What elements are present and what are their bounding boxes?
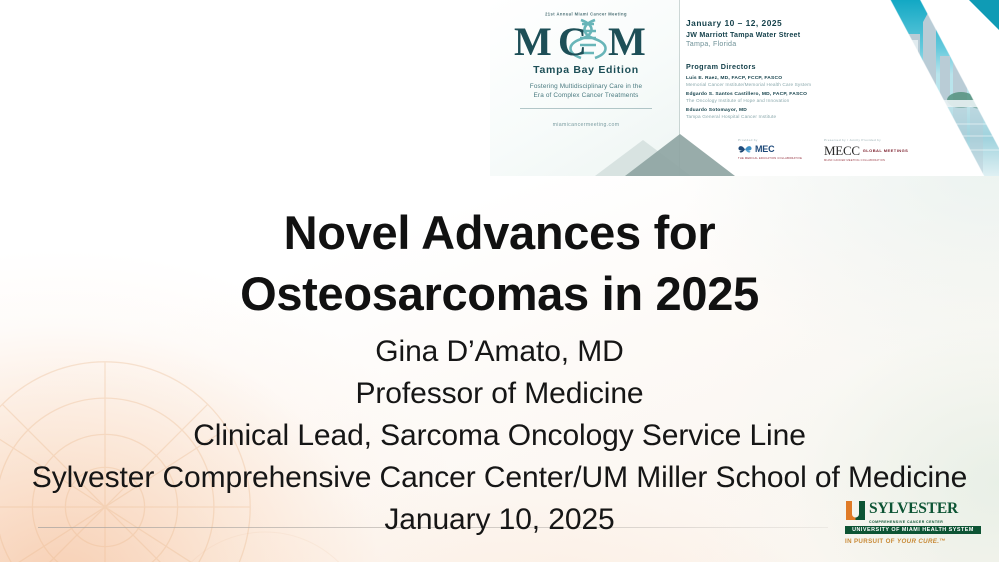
presenter-institution: Sylvester Comprehensive Cancer Center/UM… [0,457,999,499]
program-director-affiliation: Tampa General Hospital Cancer Institute [686,114,861,119]
mcm-supertitle: 21st Annual Miami Cancer Meeting [490,12,684,17]
slide-title-line-1: Novel Advances for [0,202,999,263]
sponsor-mec-kicker: Provided by [738,138,802,142]
sylvester-subtitle: COMPREHENSIVE CANCER CENTER [869,520,981,524]
presenter-name: Gina D’Amato, MD [0,331,999,373]
conference-venue: JW Marriott Tampa Water Street [686,31,861,39]
mcm-tagline: Fostering Multidisciplinary Care in the … [508,82,664,101]
sylvester-tagline-italic: YOUR CURE. [897,538,939,545]
conference-info: January 10 – 12, 2025 JW Marriott Tampa … [686,18,861,119]
program-director-affiliation: The Oncology Institute of Hope and Innov… [686,98,861,103]
banner-teal-corner [969,0,999,30]
conference-banner: 21st Annual Miami Cancer Meeting M C M T… [490,0,999,176]
sponsor-mecc-subtitle: MIAMI CANCER MEETING COLLABORATION [824,159,908,162]
svg-text:C: C [558,19,587,62]
program-director-name: Edgardo S. Santos Castillero, MD, FACP, … [686,92,861,97]
sylvester-tagline-tm: ™ [939,538,946,545]
slide-title: Novel Advances for Osteosarcomas in 2025 [0,202,999,324]
sylvester-tagline: IN PURSUIT OF YOUR CURE.™ [845,538,981,545]
sylvester-health-system-band: UNIVERSITY OF MIAMI HEALTH SYSTEM [845,526,981,535]
conference-city: Tampa, Florida [686,40,861,48]
program-director-name: Luis E. Raez, MD, FACP, FCCP, FASCO [686,76,861,81]
sylvester-tagline-prefix: IN PURSUIT OF [845,538,897,545]
sponsor-mecc-name: MECC [824,144,860,157]
slide-title-line-2: Osteosarcomas in 2025 [0,263,999,324]
mcm-tagline-line2: Era of Complex Cancer Treatments [514,91,658,100]
presenter-role: Clinical Lead, Sarcoma Oncology Service … [0,415,999,457]
program-director-affiliation: Memorial Cancer Institute/Memorial Healt… [686,82,861,87]
svg-text:M: M [608,19,646,62]
mcm-website-url: miamicancermeeting.com [508,122,664,128]
presenter-title: Professor of Medicine [0,373,999,415]
sponsor-logos: Provided by MEC THE MEDICAL EDUCATION CO… [738,138,908,162]
sponsor-mecc-name-right: GLOBAL MEETINGS [863,148,909,153]
conference-dates: January 10 – 12, 2025 [686,18,861,28]
sponsor-mecc-kicker: Presented by / Jointly Provided by [824,138,908,142]
um-u-icon [845,500,866,520]
sylvester-logo: SYLVESTER COMPREHENSIVE CANCER CENTER UN… [845,500,981,545]
sponsor-mec: Provided by MEC THE MEDICAL EDUCATION CO… [738,138,802,160]
mcm-edition-label: Tampa Bay Edition [508,64,664,76]
sylvester-name: SYLVESTER [869,500,958,517]
mcm-tagline-line1: Fostering Multidisciplinary Care in the [514,82,658,91]
program-director-item: Luis E. Raez, MD, FACP, FCCP, FASCO Memo… [686,76,861,87]
mcm-logo: 21st Annual Miami Cancer Meeting M C M T… [508,12,664,128]
program-director-item: Edgardo S. Santos Castillero, MD, FACP, … [686,92,861,103]
sponsor-mec-subtitle: THE MEDICAL EDUCATION COLLABORATIVE [738,157,802,160]
mec-butterfly-icon [738,144,752,155]
presentation-slide: 21st Annual Miami Cancer Meeting M C M T… [0,0,999,562]
program-director-name: Eduardo Sotomayor, MD [686,108,861,113]
program-directors-heading: Program Directors [686,62,861,71]
sponsor-mecc: Presented by / Jointly Provided by MECC … [824,138,908,162]
mcm-wordmark-icon: M C M [511,17,661,62]
program-director-item: Eduardo Sotomayor, MD Tampa General Hosp… [686,108,861,119]
mcm-divider [520,108,652,109]
svg-text:M: M [514,19,552,62]
sponsor-mec-name: MEC [755,145,774,154]
decorative-triangle [625,134,735,176]
